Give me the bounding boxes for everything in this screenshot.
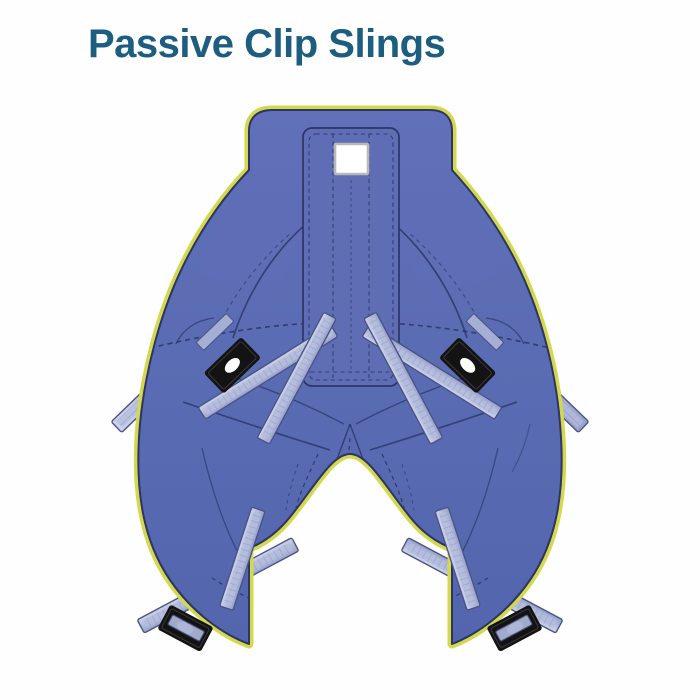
product-image-canvas: Passive Clip Slings xyxy=(0,0,700,700)
page-title: Passive Clip Slings xyxy=(88,20,608,68)
sling-svg xyxy=(0,72,700,700)
sling-illustration xyxy=(0,72,700,700)
care-label-patch xyxy=(335,144,368,174)
